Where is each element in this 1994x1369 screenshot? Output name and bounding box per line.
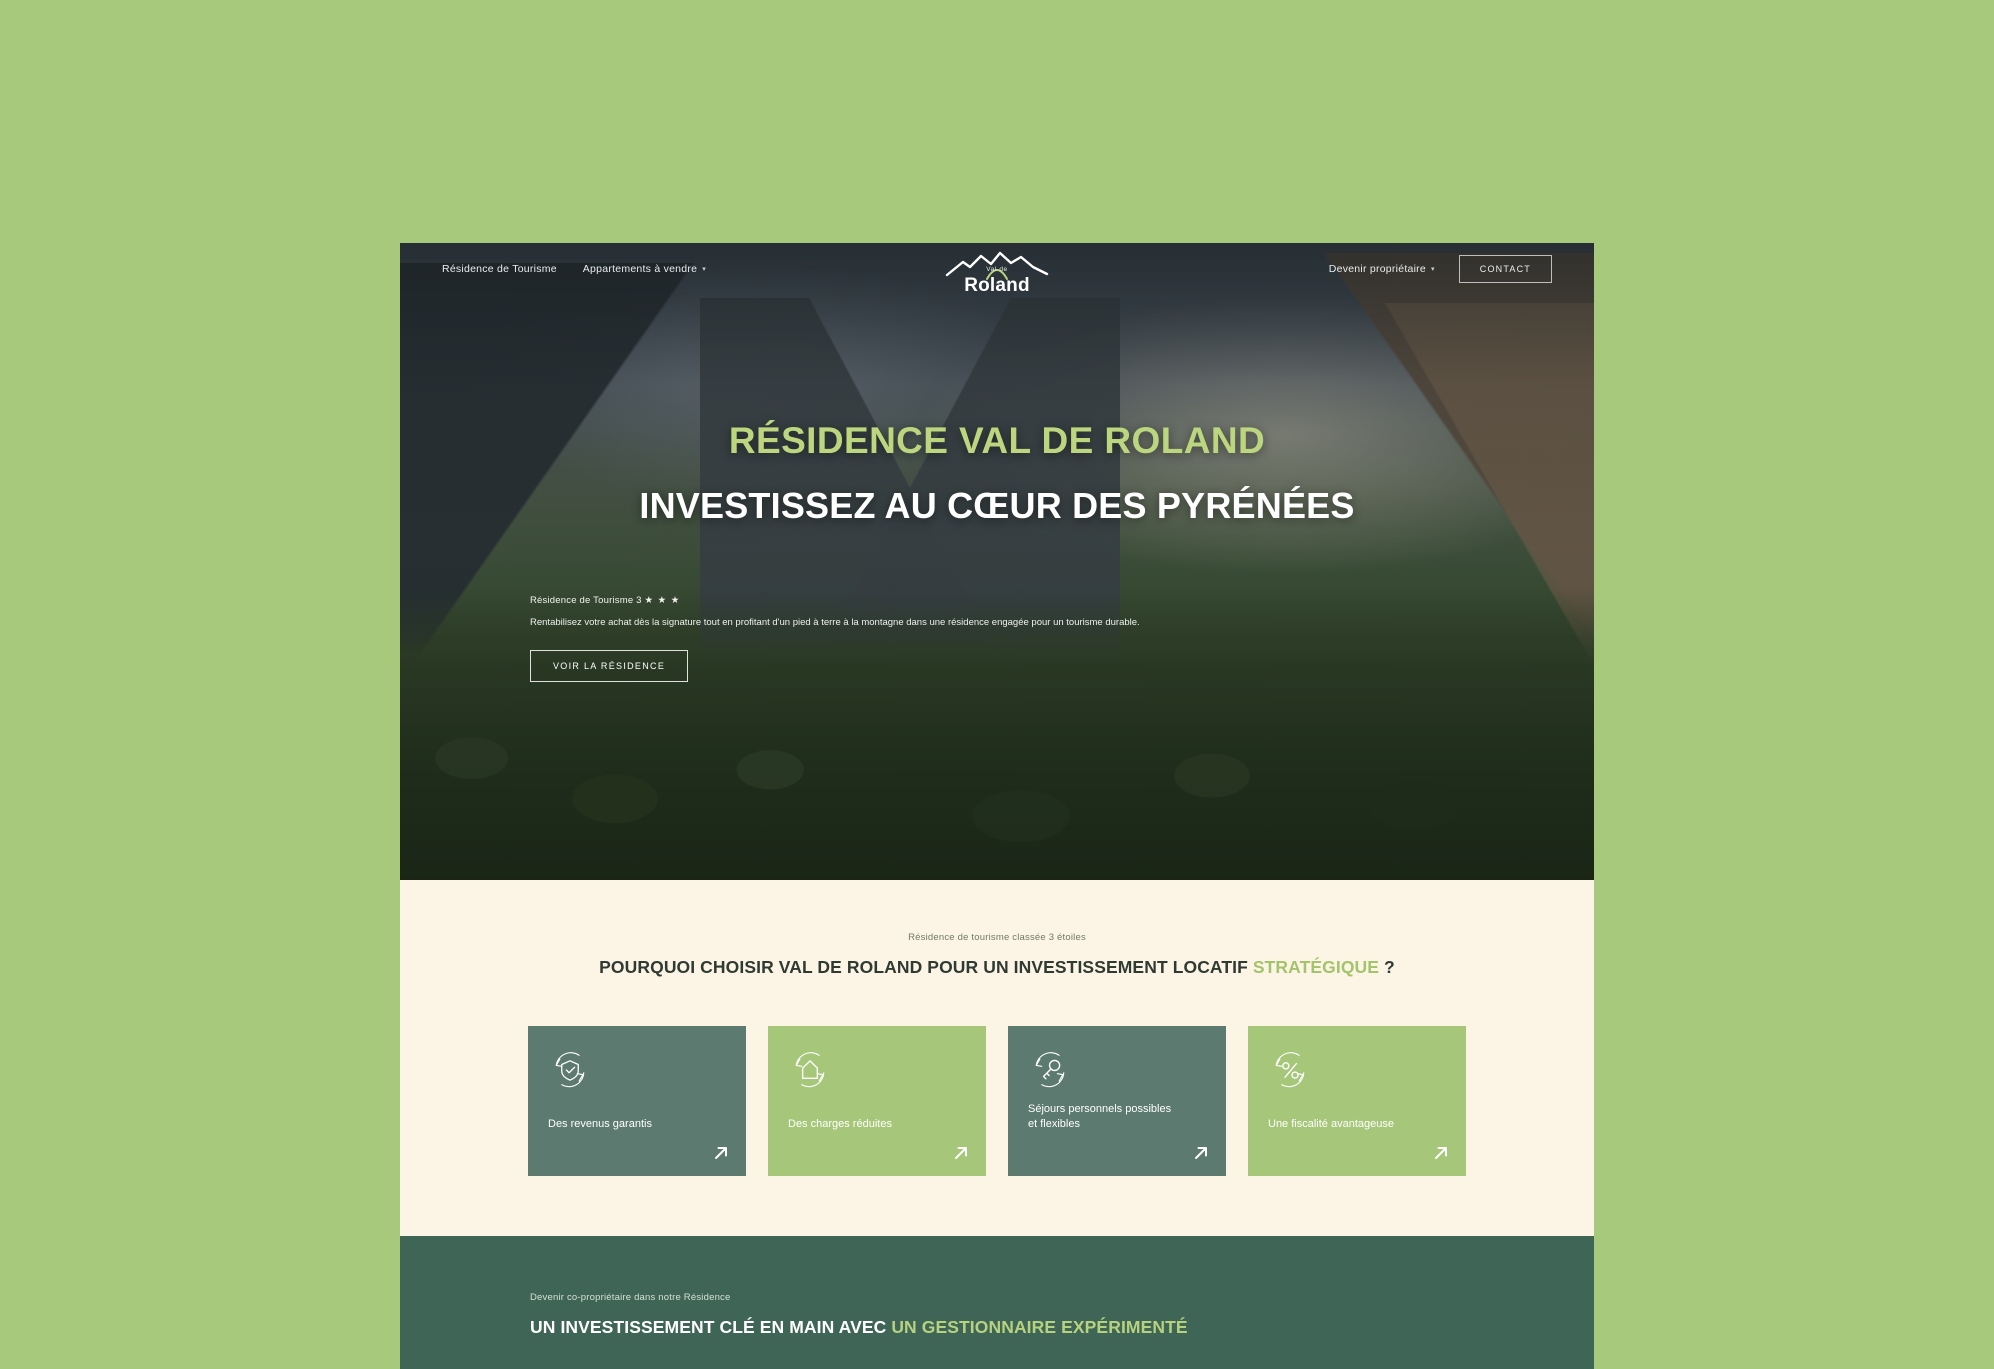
why-title-after: ? (1379, 957, 1395, 977)
hero-text-block: Résidence de Tourisme 3 ★ ★ ★ Rentabilis… (530, 595, 1190, 682)
view-residence-button[interactable]: VOIR LA RÉSIDENCE (530, 650, 688, 682)
why-title-accent: STRATÉGIQUE (1253, 957, 1379, 977)
contact-button[interactable]: CONTACT (1459, 255, 1552, 283)
why-eyebrow: Résidence de tourisme classée 3 étoiles (400, 932, 1594, 943)
nav-left-group: Résidence de Tourisme Appartements à ven… (442, 263, 706, 275)
why-choose-section: Résidence de tourisme classée 3 étoiles … (400, 880, 1594, 1236)
chevron-down-icon: ▾ (702, 265, 706, 273)
percent-cycle-icon (1268, 1048, 1312, 1092)
logo-main-word: Roland (943, 276, 1051, 295)
benefit-card-label: Une fiscalité avantageuse (1268, 1117, 1422, 1132)
site-logo[interactable]: Val de Roland (943, 249, 1051, 295)
nav-item-label: Résidence de Tourisme (442, 263, 557, 275)
manager-eyebrow: Devenir co-propriétaire dans notre Résid… (530, 1292, 1594, 1303)
manager-title-accent: UN GESTIONNAIRE EXPÉRIMENTÉ (891, 1317, 1187, 1337)
nav-item-devenir-proprietaire[interactable]: Devenir propriétaire ▾ (1329, 263, 1435, 275)
hero-rating: Résidence de Tourisme 3 ★ ★ ★ (530, 595, 1190, 606)
nav-right-group: Devenir propriétaire ▾ CONTACT (1329, 255, 1552, 283)
benefit-card-sejours-personnels[interactable]: Séjours personnels possibles et flexible… (1008, 1026, 1226, 1176)
key-cycle-icon (1028, 1048, 1072, 1092)
nav-item-residence-de-tourisme[interactable]: Résidence de Tourisme (442, 263, 557, 275)
hero-description: Rentabilisez votre achat dès la signatur… (530, 615, 1178, 632)
chevron-down-icon: ▾ (1431, 265, 1435, 273)
arrow-up-right-icon (952, 1144, 970, 1162)
main-navigation: Résidence de Tourisme Appartements à ven… (400, 243, 1594, 295)
hero-section: Résidence de Tourisme Appartements à ven… (400, 243, 1594, 880)
manager-title-before: UN INVESTISSEMENT CLÉ EN MAIN AVEC (530, 1317, 891, 1337)
why-title: POURQUOI CHOISIR VAL DE ROLAND POUR UN I… (400, 957, 1594, 978)
house-cycle-icon (788, 1048, 832, 1092)
hero-rating-label: Résidence de Tourisme 3 (530, 595, 642, 606)
arrow-up-right-icon (712, 1144, 730, 1162)
manager-section: Devenir co-propriétaire dans notre Résid… (400, 1236, 1594, 1369)
arrow-up-right-icon (1432, 1144, 1450, 1162)
hero-title: RÉSIDENCE VAL DE ROLAND (400, 420, 1594, 462)
hero-subtitle: INVESTISSEZ AU CŒUR DES PYRÉNÉES (400, 485, 1594, 527)
logo-top-word: Val de (943, 266, 1051, 273)
arrow-up-right-icon (1192, 1144, 1210, 1162)
benefit-card-label: Des charges réduites (788, 1117, 942, 1132)
benefit-card-revenus-garantis[interactable]: Des revenus garantis (528, 1026, 746, 1176)
website-viewport: Résidence de Tourisme Appartements à ven… (400, 243, 1594, 1369)
nav-item-label: Devenir propriétaire (1329, 263, 1426, 275)
benefit-cards-row: Des revenus garantis Des charges réduite… (400, 1026, 1594, 1176)
nav-item-appartements-a-vendre[interactable]: Appartements à vendre ▾ (583, 263, 706, 275)
shield-check-cycle-icon (548, 1048, 592, 1092)
benefit-card-label: Des revenus garantis (548, 1117, 702, 1132)
hero-content: RÉSIDENCE VAL DE ROLAND INVESTISSEZ AU C… (400, 243, 1594, 880)
manager-title: UN INVESTISSEMENT CLÉ EN MAIN AVEC UN GE… (530, 1317, 1594, 1338)
why-title-before: POURQUOI CHOISIR VAL DE ROLAND POUR UN I… (599, 957, 1253, 977)
star-rating-icon: ★ ★ ★ (644, 595, 680, 606)
nav-item-label: Appartements à vendre (583, 263, 697, 275)
manager-content: Devenir co-propriétaire dans notre Résid… (400, 1292, 1594, 1338)
benefit-card-charges-reduites[interactable]: Des charges réduites (768, 1026, 986, 1176)
benefit-card-label: Séjours personnels possibles et flexible… (1028, 1102, 1182, 1132)
benefit-card-fiscalite-avantageuse[interactable]: Une fiscalité avantageuse (1248, 1026, 1466, 1176)
